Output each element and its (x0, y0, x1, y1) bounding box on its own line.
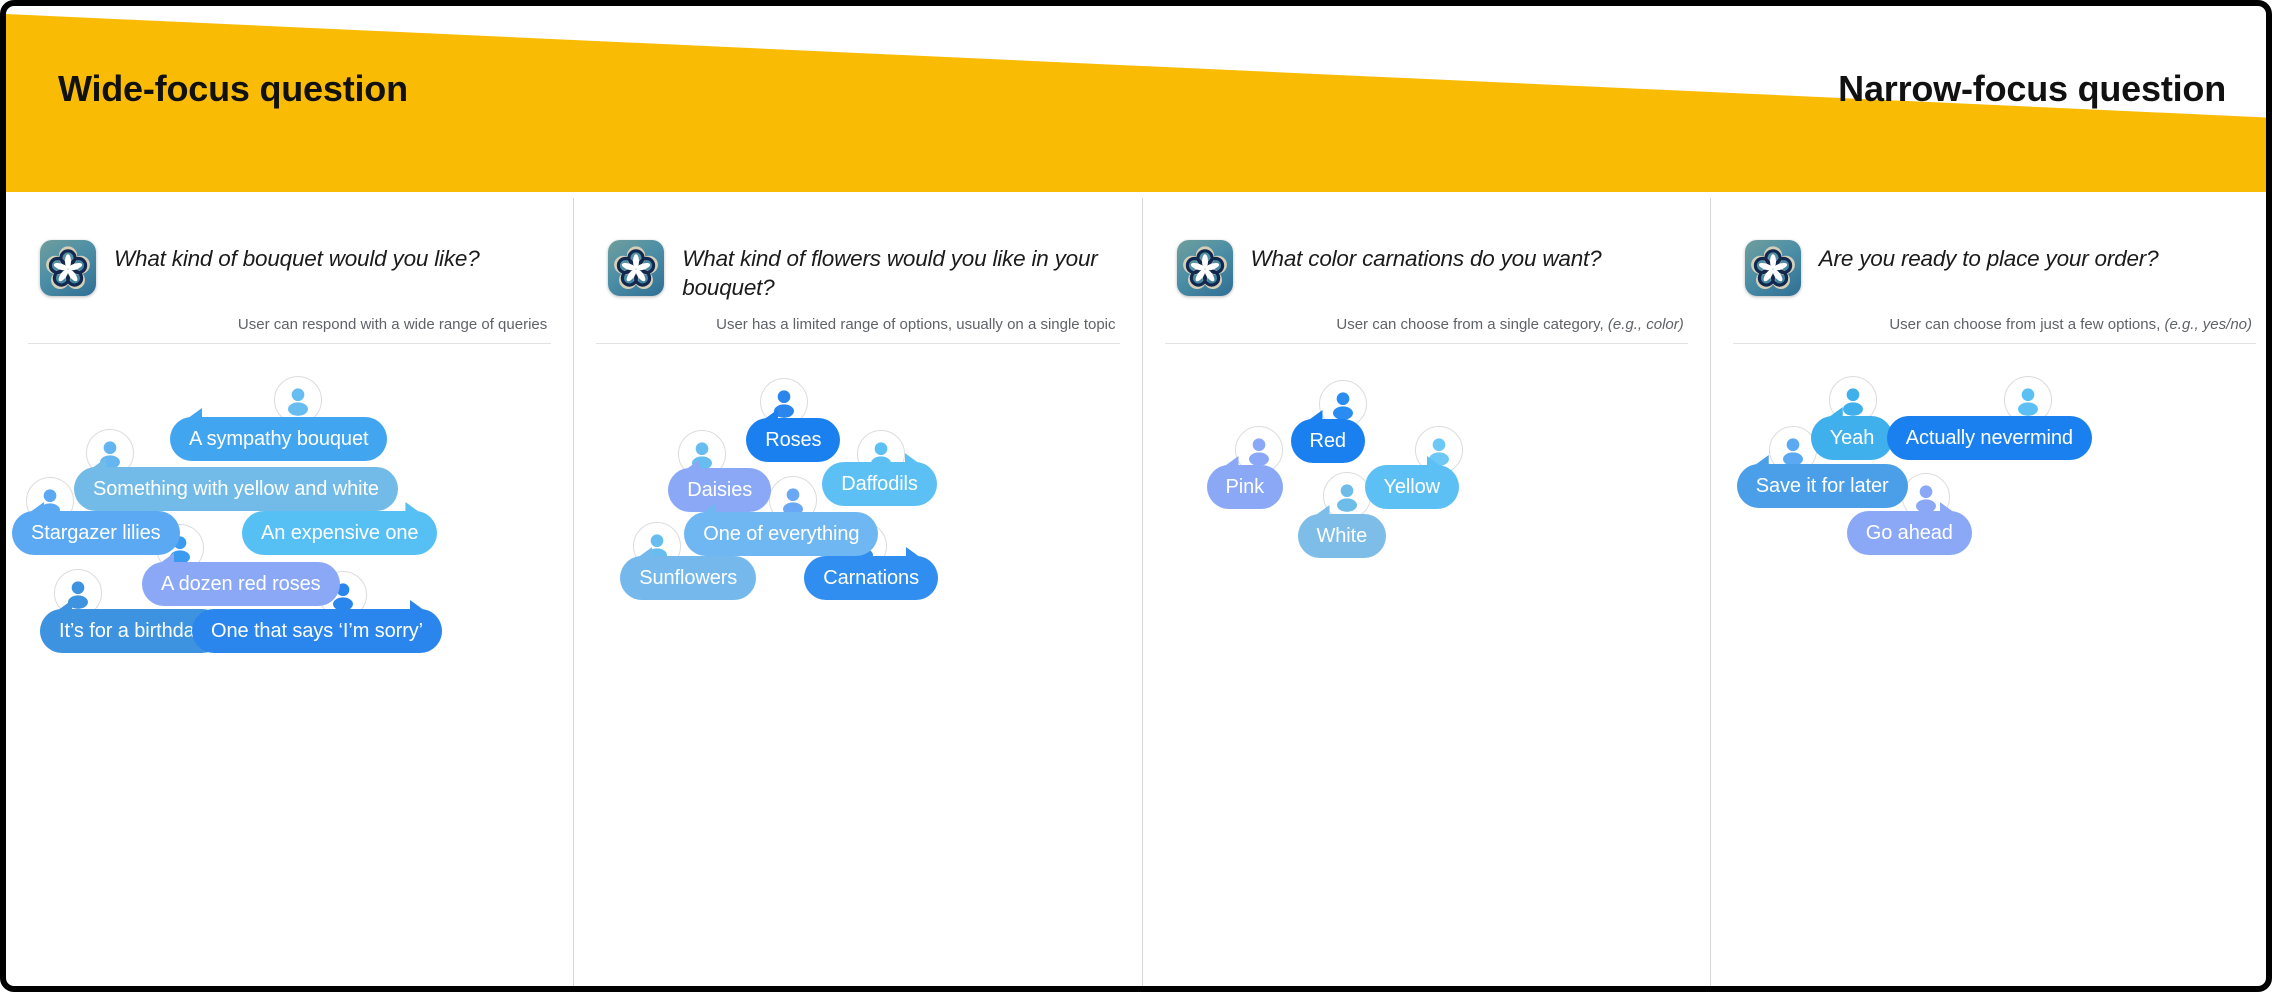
caption-divider (1733, 343, 2256, 344)
person-avatar-glyph (1324, 473, 1370, 519)
caption-plain: User can choose from a single category, (1336, 316, 1608, 333)
response-bubble-label: Sunflowers (639, 567, 737, 590)
caption-text: User can choose from just a few options,… (1733, 316, 2256, 343)
response-bubble[interactable]: Yellow (1365, 465, 1459, 509)
question-columns: What kind of bouquet would you like? Use… (6, 198, 2272, 992)
flower-rosette-icon (1177, 240, 1233, 296)
flower-rosette-glyph (608, 240, 664, 296)
wide-focus-label: Wide-focus question (58, 68, 408, 110)
response-bubble[interactable]: Roses (746, 418, 840, 462)
flower-rosette-icon (1745, 240, 1801, 296)
response-bubble-label: An expensive one (261, 522, 418, 545)
question-row: What color carnations do you want? (1143, 198, 1710, 296)
focus-spectrum-header: Wide-focus question Narrow-focus questio… (6, 6, 2272, 198)
response-bubble-label: Go ahead (1866, 522, 1953, 545)
question-text: Are you ready to place your order? (1819, 240, 2159, 273)
caption-text: User can choose from a single category, … (1165, 316, 1688, 343)
flower-rosette-icon (40, 240, 96, 296)
diagram-frame: Wide-focus question Narrow-focus questio… (0, 0, 2272, 992)
response-bubble[interactable]: Actually nevermind (1887, 416, 2092, 460)
caption-emphasis: (e.g., yes/no) (2164, 316, 2252, 333)
response-bubble-label: Red (1310, 430, 1346, 453)
response-bubble[interactable]: White (1298, 514, 1387, 558)
caption-divider (28, 343, 551, 344)
flower-rosette-glyph (40, 240, 96, 296)
caption-plain: User has a limited range of options, usu… (716, 316, 1115, 333)
caption-divider (596, 343, 1119, 344)
response-bubble-label: Yeah (1830, 427, 1874, 450)
response-bubble[interactable]: Stargazer lilies (12, 511, 180, 555)
question-column-1: What kind of bouquet would you like? Use… (6, 198, 573, 992)
response-bubble[interactable]: A dozen red roses (142, 562, 340, 606)
question-column-4: Are you ready to place your order? User … (1710, 198, 2272, 992)
caption-text: User can respond with a wide range of qu… (28, 316, 551, 343)
response-bubble-label: Stargazer lilies (31, 522, 161, 545)
response-bubble[interactable]: A sympathy bouquet (170, 417, 387, 461)
flower-rosette-glyph (1745, 240, 1801, 296)
response-bubble-label: One that says ‘I’m sorry’ (211, 620, 423, 643)
caption-text: User has a limited range of options, usu… (596, 316, 1119, 343)
response-bubble[interactable]: Something with yellow and white (74, 467, 398, 511)
question-text: What kind of bouquet would you like? (114, 240, 480, 273)
response-bubble[interactable]: One that says ‘I’m sorry’ (192, 609, 442, 653)
response-bubble-scene-3: RedPinkYellowWhite (1143, 366, 1710, 926)
response-bubble[interactable]: An expensive one (242, 511, 437, 555)
question-text: What kind of flowers would you like in y… (682, 240, 1107, 303)
response-bubble-label: White (1317, 525, 1368, 548)
response-bubble-label: A dozen red roses (161, 573, 321, 596)
response-bubble[interactable]: Sunflowers (620, 556, 756, 600)
response-bubble-label: Yellow (1384, 476, 1440, 499)
response-bubble-label: Save it for later (1756, 475, 1889, 498)
question-text: What color carnations do you want? (1251, 240, 1602, 273)
question-row: What kind of flowers would you like in y… (574, 198, 1141, 303)
caption-block: User can respond with a wide range of qu… (6, 316, 573, 344)
response-bubble[interactable]: Yeah (1811, 416, 1893, 460)
narrow-focus-label: Narrow-focus question (1838, 68, 2226, 110)
response-bubble[interactable]: Red (1291, 419, 1365, 463)
response-bubble[interactable]: Carnations (804, 556, 938, 600)
question-column-3: What color carnations do you want? User … (1142, 198, 1710, 992)
caption-block: User can choose from a single category, … (1143, 316, 1710, 344)
response-bubble-label: Actually nevermind (1906, 427, 2073, 450)
avatar (1323, 472, 1371, 520)
caption-plain: User can respond with a wide range of qu… (238, 316, 547, 333)
question-row: Are you ready to place your order? (1711, 198, 2272, 296)
response-bubble-label: It’s for a birthday (59, 620, 205, 643)
response-bubble-label: A sympathy bouquet (189, 428, 368, 451)
response-bubble-label: Daffodils (841, 473, 918, 496)
response-bubble[interactable]: One of everything (684, 512, 878, 556)
response-bubble[interactable]: Daffodils (822, 462, 937, 506)
response-bubble-label: Roses (765, 429, 821, 452)
response-bubble-label: One of everything (703, 523, 859, 546)
response-bubble-label: Carnations (823, 567, 919, 590)
response-bubble-scene-1: A sympathy bouquetSomething with yellow … (6, 366, 573, 926)
response-bubble-scene-2: RosesDaffodilsDaisiesOne of everythingSu… (574, 366, 1141, 926)
response-bubble-label: Pink (1226, 476, 1265, 499)
response-bubble[interactable]: Save it for later (1737, 464, 1908, 508)
flower-rosette-icon (608, 240, 664, 296)
caption-emphasis: (e.g., color) (1608, 316, 1684, 333)
question-row: What kind of bouquet would you like? (6, 198, 573, 296)
response-bubble-label: Daisies (687, 479, 752, 502)
flower-rosette-glyph (1177, 240, 1233, 296)
caption-divider (1165, 343, 1688, 344)
response-bubble[interactable]: Go ahead (1847, 511, 1972, 555)
response-bubble[interactable]: Pink (1207, 465, 1284, 509)
response-bubble-label: Something with yellow and white (93, 478, 379, 501)
caption-plain: User can choose from just a few options, (1889, 316, 2164, 333)
caption-block: User has a limited range of options, usu… (574, 316, 1141, 344)
caption-block: User can choose from just a few options,… (1711, 316, 2272, 344)
question-column-2: What kind of flowers would you like in y… (573, 198, 1141, 992)
response-bubble-scene-4: YeahActually nevermindSave it for laterG… (1711, 366, 2272, 926)
response-bubble[interactable]: Daisies (668, 468, 771, 512)
